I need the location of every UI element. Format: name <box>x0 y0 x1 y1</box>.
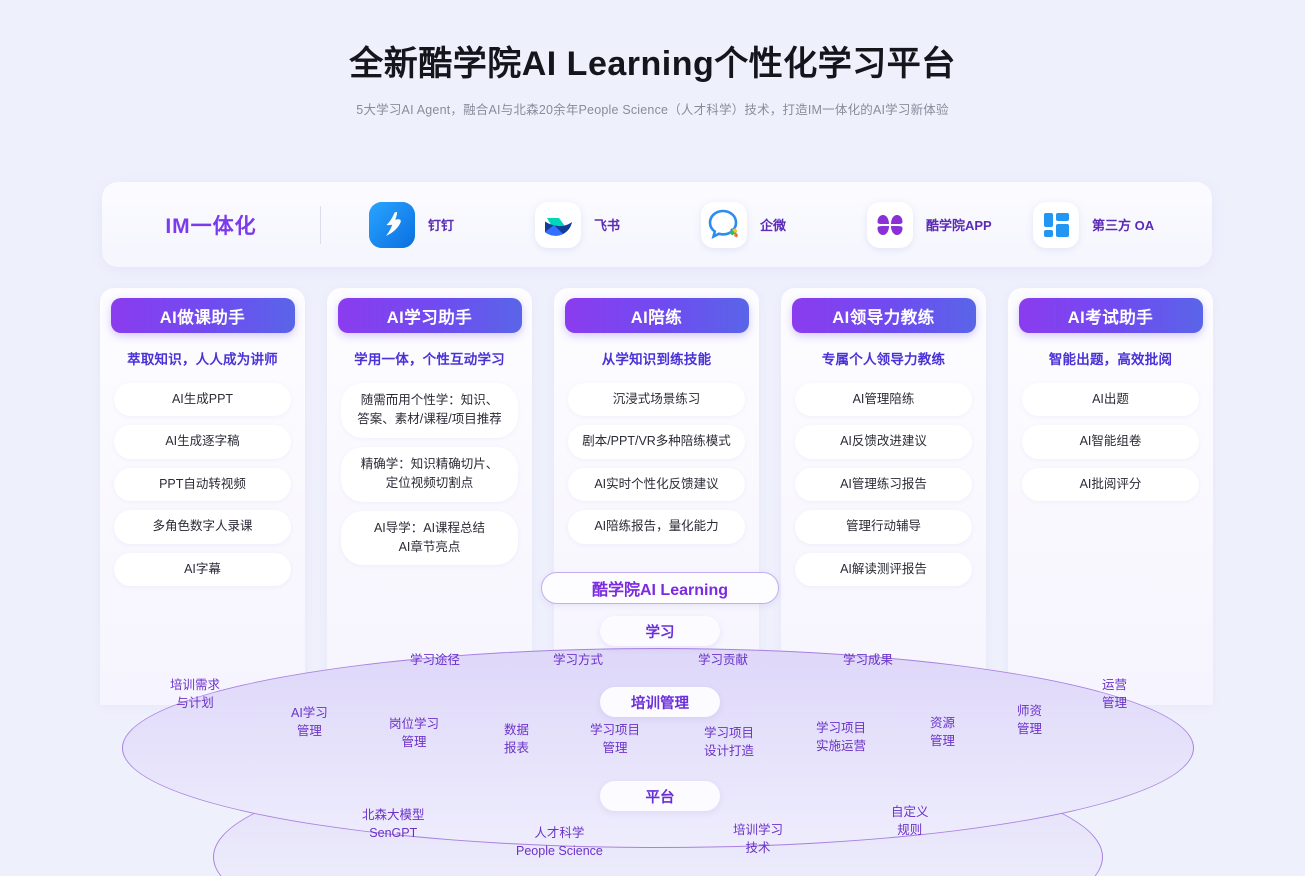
column-items: AI管理陪练 AI反馈改进建议 AI管理练习报告 管理行动辅导 AI解读测评报告 <box>781 383 986 586</box>
im-item-feishu[interactable]: 飞书 <box>535 202 701 248</box>
training-node: 学习项目管理 <box>590 721 640 757</box>
im-item-label: 钉钉 <box>428 215 454 234</box>
column-title: AI做课助手 <box>111 298 295 333</box>
list-item[interactable]: PPT自动转视频 <box>114 468 291 501</box>
im-item-kuxueyuan-app[interactable]: 酷学院APP <box>867 202 1033 248</box>
list-item[interactable]: 随需而用个性学：知识、答案、素材/课程/项目推荐 <box>341 383 518 438</box>
im-item-label: 企微 <box>760 215 786 234</box>
feishu-icon <box>535 202 581 248</box>
training-ellipse <box>122 648 1194 848</box>
list-item[interactable]: AI实时个性化反馈建议 <box>568 468 745 501</box>
feature-column-ai-course-assistant: AI做课助手 萃取知识，人人成为讲师 AI生成PPT AI生成逐字稿 PPT自动… <box>100 288 305 705</box>
dingtalk-icon <box>369 202 415 248</box>
training-node: 师资管理 <box>1017 702 1042 738</box>
learning-node: 学习成果 <box>843 651 893 669</box>
platform-node: 北森大模型SenGPT <box>362 806 425 842</box>
column-items: 沉浸式场景练习 剧本/PPT/VR多种陪练模式 AI实时个性化反馈建议 AI陪练… <box>554 383 759 544</box>
feature-column-ai-leadership-coach: AI领导力教练 专属个人领导力教练 AI管理陪练 AI反馈改进建议 AI管理练习… <box>781 288 986 705</box>
list-item[interactable]: AI生成PPT <box>114 383 291 416</box>
training-pill: 培训管理 <box>600 687 720 717</box>
list-item[interactable]: AI反馈改进建议 <box>795 425 972 458</box>
list-item[interactable]: AI出题 <box>1022 383 1199 416</box>
list-item[interactable]: 精确学：知识精确切片、定位视频切割点 <box>341 447 518 502</box>
list-item[interactable]: AI生成逐字稿 <box>114 425 291 458</box>
list-item[interactable]: AI批阅评分 <box>1022 468 1199 501</box>
feature-column-ai-exam-assistant: AI考试助手 智能出题，高效批阅 AI出题 AI智能组卷 AI批阅评分 <box>1008 288 1213 705</box>
training-node: 学习项目实施运营 <box>816 719 866 755</box>
list-item[interactable]: AI智能组卷 <box>1022 425 1199 458</box>
platform-pill: 平台 <box>600 781 720 811</box>
feature-column-ai-study-assistant: AI学习助手 学用一体，个性互动学习 随需而用个性学：知识、答案、素材/课程/项… <box>327 288 532 705</box>
column-items: AI生成PPT AI生成逐字稿 PPT自动转视频 多角色数字人录课 AI字幕 <box>100 383 305 586</box>
list-item[interactable]: AI导学：AI课程总结AI章节亮点 <box>341 511 518 566</box>
im-integration-bar: IM一体化 钉钉 <box>102 182 1212 267</box>
learning-node: 学习贡献 <box>698 651 748 669</box>
learning-node: 学习方式 <box>553 651 603 669</box>
page-subtitle: 5大学习AI Agent，融合AI与北森20余年People Science（人… <box>0 99 1305 118</box>
training-node: 运营管理 <box>1102 676 1127 712</box>
list-item[interactable]: 沉浸式场景练习 <box>568 383 745 416</box>
learning-pill: 学习 <box>600 616 720 646</box>
im-item-label: 飞书 <box>594 215 620 234</box>
list-item[interactable]: AI管理陪练 <box>795 383 972 416</box>
im-bar-title: IM一体化 <box>102 210 320 240</box>
list-item[interactable]: AI陪练报告，量化能力 <box>568 510 745 543</box>
column-title: AI陪练 <box>565 298 749 333</box>
wecom-icon <box>701 202 747 248</box>
training-node: 数据报表 <box>504 721 529 757</box>
page-root: 全新酷学院AI Learning个性化学习平台 5大学习AI Agent，融合A… <box>0 0 1305 876</box>
column-tagline: 智能出题，高效批阅 <box>1008 348 1213 368</box>
third-party-oa-icon <box>1033 202 1079 248</box>
kuxueyuan-app-icon <box>867 202 913 248</box>
column-tagline: 专属个人领导力教练 <box>781 348 986 368</box>
training-node: 资源管理 <box>930 714 955 750</box>
column-tagline: 萃取知识，人人成为讲师 <box>100 348 305 368</box>
training-node: 学习项目设计打造 <box>704 724 754 760</box>
list-item[interactable]: 管理行动辅导 <box>795 510 972 543</box>
im-item-label: 第三方 OA <box>1092 215 1154 234</box>
im-item-dingtalk[interactable]: 钉钉 <box>369 202 535 248</box>
platform-node: 培训学习技术 <box>733 821 783 857</box>
list-item[interactable]: AI管理练习报告 <box>795 468 972 501</box>
column-title: AI考试助手 <box>1019 298 1203 333</box>
column-items: 随需而用个性学：知识、答案、素材/课程/项目推荐 精确学：知识精确切片、定位视频… <box>327 383 532 565</box>
list-item[interactable]: AI字幕 <box>114 553 291 586</box>
list-item[interactable]: 多角色数字人录课 <box>114 510 291 543</box>
platform-node: 人才科学People Science <box>516 824 603 860</box>
training-node: AI学习管理 <box>291 704 328 740</box>
brand-pill: 酷学院AI Learning <box>541 572 779 604</box>
training-node: 岗位学习管理 <box>389 715 439 751</box>
im-item-wecom[interactable]: 企微 <box>701 202 867 248</box>
column-tagline: 学用一体，个性互动学习 <box>327 348 532 368</box>
page-title: 全新酷学院AI Learning个性化学习平台 <box>0 44 1305 85</box>
column-title: AI领导力教练 <box>792 298 976 333</box>
list-item[interactable]: 剧本/PPT/VR多种陪练模式 <box>568 425 745 458</box>
learning-node: 学习途径 <box>410 651 460 669</box>
platform-node: 自定义规则 <box>891 803 929 839</box>
im-bar-items: 钉钉 飞书 <box>321 202 1212 248</box>
list-item[interactable]: AI解读测评报告 <box>795 553 972 586</box>
column-title: AI学习助手 <box>338 298 522 333</box>
page-header: 全新酷学院AI Learning个性化学习平台 5大学习AI Agent，融合A… <box>0 0 1305 118</box>
column-tagline: 从学知识到练技能 <box>554 348 759 368</box>
column-items: AI出题 AI智能组卷 AI批阅评分 <box>1008 383 1213 501</box>
im-item-label: 酷学院APP <box>926 215 992 234</box>
im-item-third-party-oa[interactable]: 第三方 OA <box>1033 202 1199 248</box>
training-node: 培训需求与计划 <box>170 676 220 712</box>
